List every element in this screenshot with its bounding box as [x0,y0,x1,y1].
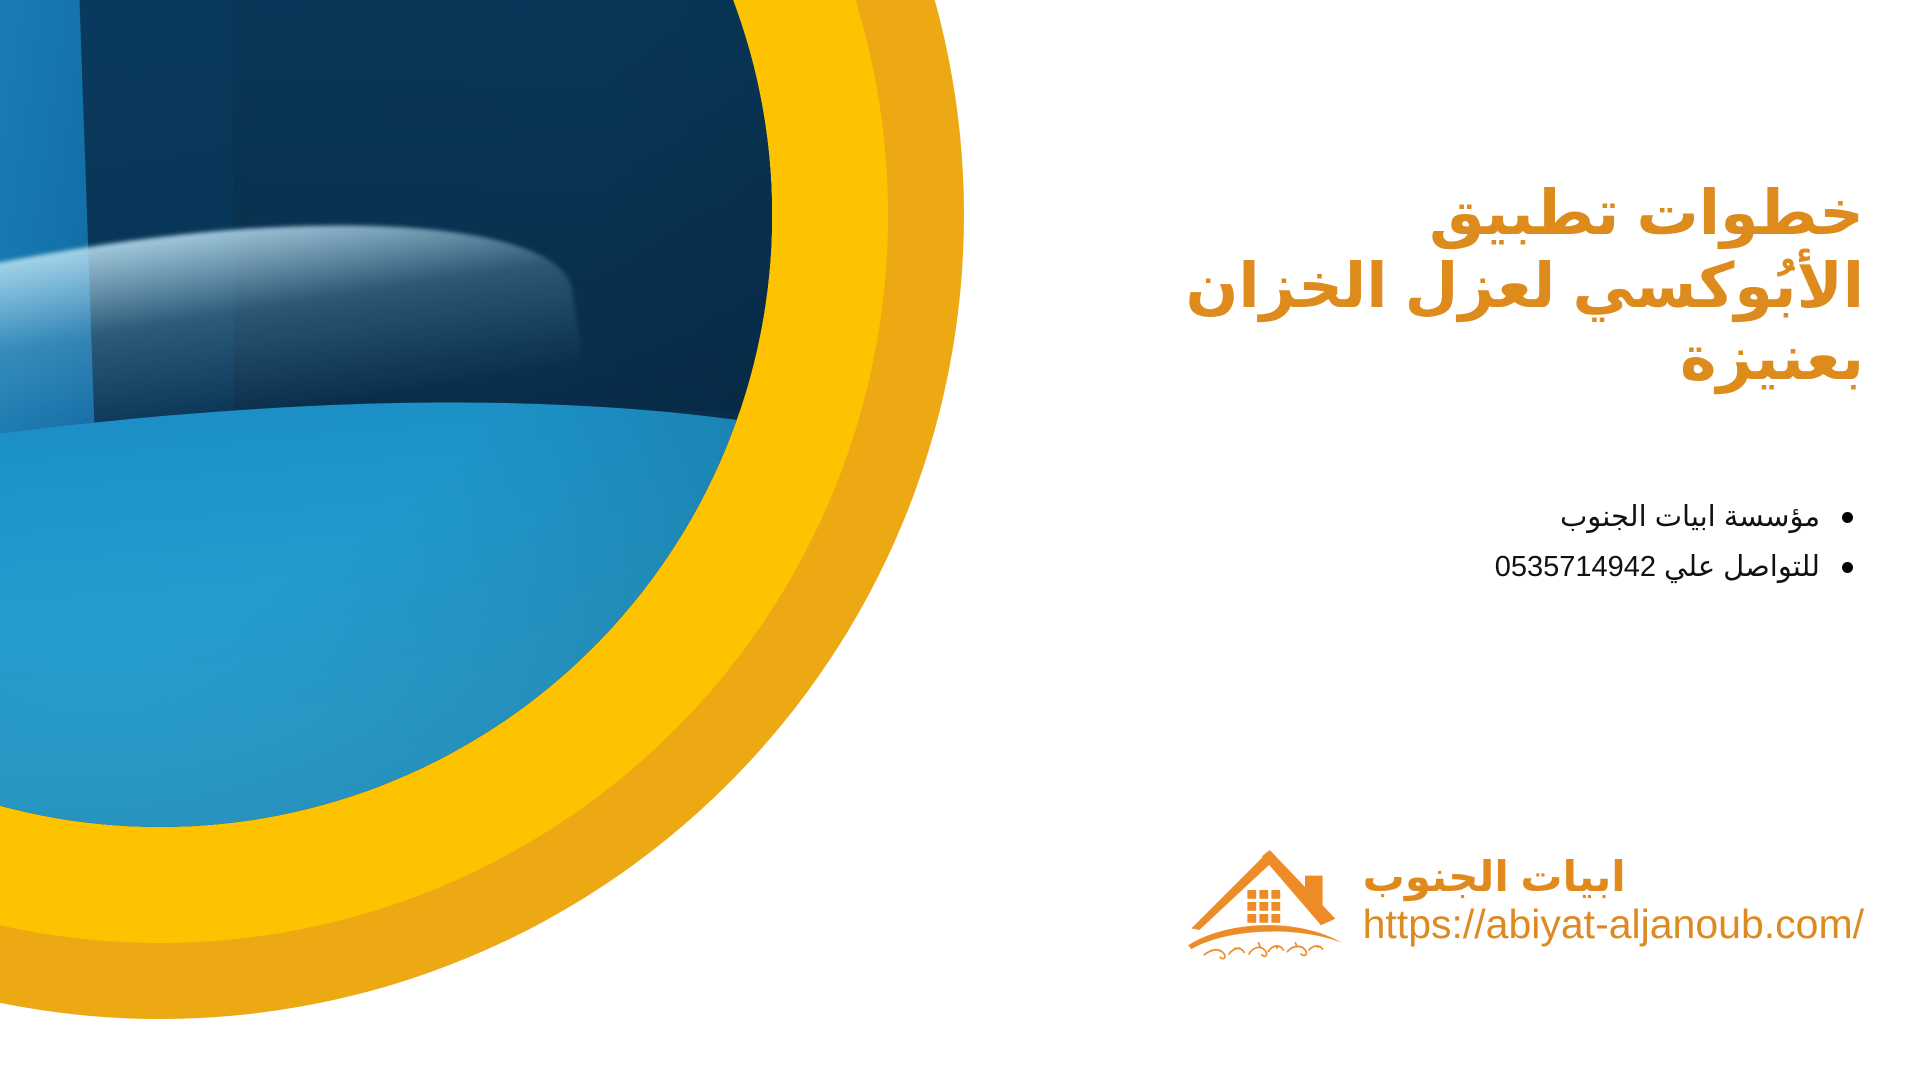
promotional-banner: خطوات تطبيق الأبُوكسي لعزل الخزان بعنيزة… [0,0,1920,1080]
list-item-label: مؤسسة ابيات الجنوب [1560,501,1820,533]
brand-text-block: ابيات الجنوب https://abiyat-aljanoub.com… [1363,855,1864,948]
list-item-label: للتواصل علي 0535714942 [1495,551,1820,583]
brand-name: ابيات الجنوب [1363,855,1626,899]
tank-base-layer [0,0,772,827]
headline-line-3: بعنيزة [944,323,1864,396]
tank-lit-corner [0,0,136,19]
circular-photo-decoration [0,0,1000,1080]
tank-back-wall-shadow [233,0,772,411]
list-item: للتواصل علي 0535714942 [900,546,1820,590]
tank-back-wall [0,0,772,533]
inner-yellow-ring [0,0,888,943]
website-url[interactable]: https://abiyat-aljanoub.com/ [1363,901,1864,948]
list-item: مؤسسة ابيات الجنوب [900,496,1820,540]
headline-line-2: الأبُوكسي لعزل الخزان [944,251,1864,324]
content-column: خطوات تطبيق الأبُوكسي لعزل الخزان بعنيزة… [944,0,1864,1080]
bullet-dot-icon [1842,512,1853,523]
tank-floor [0,370,772,827]
outer-amber-ring [0,0,964,1019]
brand-footer: ابيات الجنوب https://abiyat-aljanoub.com… [1185,842,1864,962]
tank-interior-photo [0,0,772,827]
page-title: خطوات تطبيق الأبُوكسي لعزل الخزان بعنيزة [944,178,1864,396]
photo-vignette [0,0,772,827]
info-bullet-list: مؤسسة ابيات الجنوب للتواصل علي 053571494… [900,496,1864,595]
house-roof-logo-icon [1185,842,1345,962]
headline-line-1: خطوات تطبيق [944,178,1864,251]
tank-pillar-face [0,0,99,566]
bullet-dot-icon [1842,562,1853,573]
tank-floor-highlight [0,173,584,550]
tank-pillar-speckles [0,0,99,566]
